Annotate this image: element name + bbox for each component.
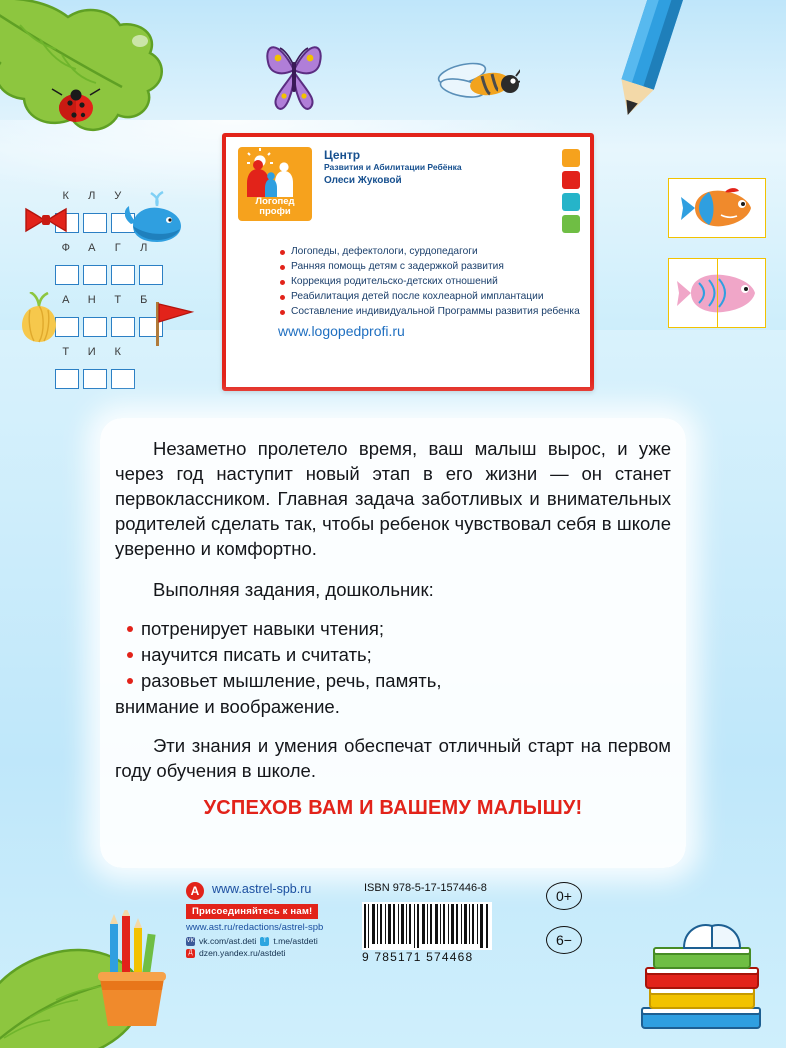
social-link-dzen[interactable]: Д dzen.yandex.ru/astdeti [186,947,318,959]
card-website-link[interactable]: www.logopedprofi.ru [278,323,405,339]
answer-box [55,369,79,389]
benefit-item: потренирует навыки чтения; [115,616,671,642]
answer-boxes [55,369,175,389]
letters-row: Т И К [55,346,175,389]
age-mark-6: 6− [546,926,582,954]
answer-box [83,265,107,285]
publisher-site-link[interactable]: www.astrel-spb.ru [212,882,311,896]
social-link-vk[interactable]: VK vk.com/ast.deti T t.me/astdeti [186,935,318,947]
tile-heart [562,171,580,189]
letter-cell: Т [55,346,77,366]
letter-cell: Т [107,294,129,314]
blue-pencil-icon [606,0,686,132]
answer-box [83,213,107,233]
letter-cell: К [107,346,129,366]
card-heading: Центр Развития и Абилитации Ребёнка Олес… [324,149,554,187]
social-text: dzen.yandex.ru/astdeti [199,947,285,959]
barcode-number: 9 785171 574468 [362,950,473,964]
text-panel: Незаметно пролетело время, ваш малыш выр… [100,418,686,868]
letter-cell: Л [81,190,103,210]
age-mark-0plus: 0+ [546,882,582,910]
fish-box-halves [668,258,766,328]
card-bullet: Коррекция родительско-детских отношений [278,275,618,288]
advertisement-card: Логопедпрофи Центр Развития и Абилитации… [222,133,594,391]
fish-orange-icon [669,179,765,237]
butterfly-icon [262,28,328,112]
card-title-1: Центр [324,149,554,162]
onion-icon [18,292,60,344]
bee-icon [428,58,520,120]
tile-star [562,149,580,167]
card-bullet: Составление индивидуальной Программы раз… [278,305,618,318]
fish-halves-icon [669,259,765,327]
benefit-item: научится писать и считать; [115,642,671,668]
social-text: t.me/astdeti [273,935,317,947]
paragraph-tasks-intro: Выполняя задания, дошкольник: [115,577,671,602]
letter-cell: Н [81,294,103,314]
red-flag-icon [148,300,196,348]
card-bullet: Реабилитация детей после кохлеарной импл… [278,290,618,303]
benefit-item: разовьет мышление, речь, память, [115,668,671,694]
telegram-icon: T [260,937,269,946]
oak-leaf-ladybug-icon [0,0,205,185]
logoped-profi-logo: Логопедпрофи [238,147,312,221]
tile-leaf [562,215,580,233]
answer-box [111,317,135,337]
card-title-3: Олеси Жуковой [324,174,554,187]
pencil-cup-icon [86,910,178,1030]
answer-box [55,265,79,285]
answer-boxes [55,265,175,285]
vk-icon: VK [186,937,195,946]
social-text: vk.com/ast.deti [199,935,256,947]
letters-row: Ф А Г Л [55,242,175,285]
answer-box [83,369,107,389]
publisher-logo-icon: A [186,882,204,900]
letter-cell: А [81,242,103,262]
letter-cell: Ф [55,242,77,262]
isbn: ISBN 978-5-17-157446-8 [364,882,487,894]
paragraph-outcome: Эти знания и умения обеспечат отличный с… [115,733,671,783]
slogan: УСПЕХОВ ВАМ И ВАШЕМУ МАЛЫШУ! [115,797,671,820]
social-links: VK vk.com/ast.deti T t.me/astdeti Д dzen… [186,935,318,959]
answer-box [139,265,163,285]
paragraph-intro: Незаметно пролетело время, ваш малыш выр… [115,436,671,561]
card-bullet: Ранняя помощь детям с задержкой развития [278,260,618,273]
fish-box-whole [668,178,766,238]
dzen-icon: Д [186,949,195,958]
card-title-2: Развития и Абилитации Ребёнка [324,162,554,173]
answer-box [83,317,107,337]
publisher-mark: A [186,882,204,900]
benefit-item-continuation: внимание и воображение. [115,694,671,720]
card-tiles [562,149,580,237]
join-us-badge: Присоединяйтесь к нам! [186,904,318,919]
book-back-cover: К Л У Ф А Г Л [0,0,786,1048]
book-stack-icon [626,912,776,1042]
answer-box [111,265,135,285]
bowtie-icon [24,205,68,235]
answer-box [111,369,135,389]
logo-text: Логопедпрофи [238,197,312,217]
benefit-list: потренирует навыки чтения; научится писа… [115,616,671,720]
footer: A www.astrel-spb.ru Присоединяйтесь к на… [186,878,606,973]
whale-icon [125,188,187,248]
card-bullet: Логопеды, дефектологи, сурдопедагоги [278,245,618,258]
tile-drop [562,193,580,211]
letter-cell: И [81,346,103,366]
publisher-subsite-link[interactable]: www.ast.ru/redactions/astrel-spb [186,922,323,933]
barcode [362,902,492,950]
card-bullet-list: Логопеды, дефектологи, сурдопедагоги Ран… [238,245,618,320]
